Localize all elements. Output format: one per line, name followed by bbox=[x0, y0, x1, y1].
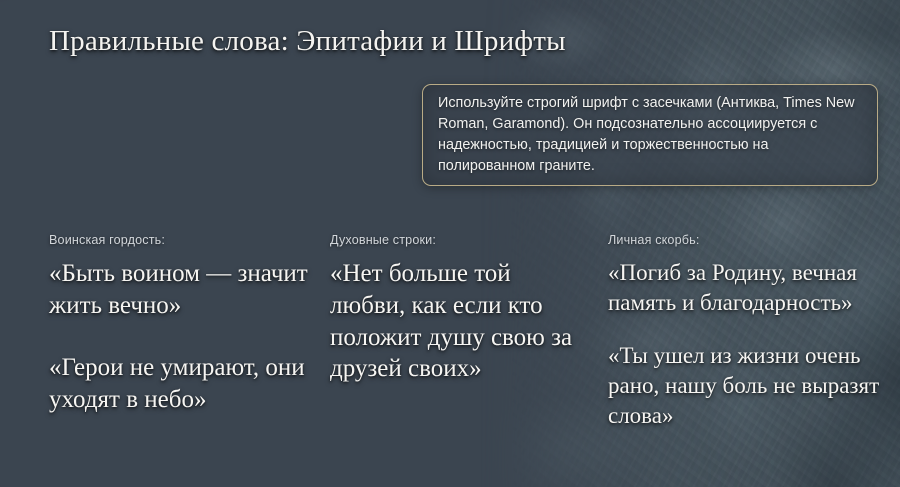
epitaph-quote: «Герои не умирают, они уходят в небо» bbox=[49, 352, 311, 417]
epitaph-quote: «Ты ушел из жизни очень рано, нашу боль … bbox=[608, 341, 890, 430]
epitaph-column-warrior-pride: Воинская гордость: «Быть воином — значит… bbox=[49, 233, 311, 416]
column-label: Воинская гордость: bbox=[49, 233, 311, 247]
epitaph-quote: «Погиб за Родину, вечная память и благод… bbox=[608, 258, 890, 317]
epitaph-column-personal-grief: Личная скорбь: «Погиб за Родину, вечная … bbox=[608, 233, 890, 430]
epitaph-column-spiritual-lines: Духовные строки: «Нет больше той любви, … bbox=[330, 233, 582, 385]
column-label: Личная скорбь: bbox=[608, 233, 890, 247]
column-label: Духовные строки: bbox=[330, 233, 582, 247]
epitaph-quote: «Нет больше той любви, как если кто поло… bbox=[330, 258, 582, 385]
slide-canvas: Правильные слова: Эпитафии и Шрифты Испо… bbox=[0, 0, 900, 487]
epitaph-quote: «Быть воином — значит жить вечно» bbox=[49, 258, 311, 323]
epitaph-columns: Воинская гордость: «Быть воином — значит… bbox=[0, 0, 900, 487]
